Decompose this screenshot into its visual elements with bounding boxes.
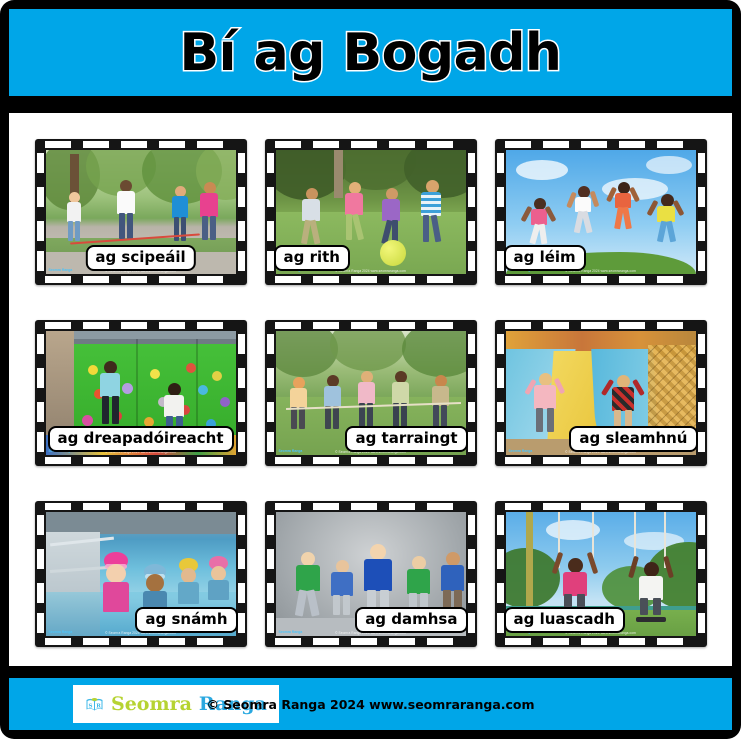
- banner-divider: [9, 96, 732, 113]
- logo-word-ranga: Ranga: [199, 695, 267, 714]
- svg-text:S: S: [89, 703, 93, 709]
- card-label: ag scipeáil: [85, 245, 195, 271]
- card-label: ag snámh: [135, 607, 237, 633]
- card-label: ag luascadh: [504, 607, 625, 633]
- seomra-ranga-logo[interactable]: S R Seomra Ranga: [73, 685, 279, 723]
- card-label: ag dreapadóireacht: [48, 426, 234, 452]
- footer-divider: [9, 666, 732, 678]
- footer-banner: S R Seomra Ranga © Seomra Ranga 2024 www…: [9, 678, 732, 730]
- open-book-icon: S R: [85, 697, 104, 712]
- card-row: Seomra Ranga © Seomra Ranga 2024 www.seo…: [9, 320, 732, 466]
- flashcard-damhsa[interactable]: Seomra Ranga © Seomra Ranga 2024 www.seo…: [265, 501, 477, 647]
- flashcard-snamh[interactable]: Seomra Ranga © Seomra Ranga 2024 www.seo…: [35, 501, 247, 647]
- card-label: ag rith: [274, 245, 350, 271]
- title-banner: Bí ag Bogadh: [9, 9, 732, 96]
- logo-word-seomra: Seomra: [111, 695, 192, 714]
- cards-grid: Seomra Ranga © Seomra Ranga 2024 www.seo…: [9, 113, 732, 666]
- card-label: ag sleamhnú: [569, 426, 697, 452]
- card-row: Seomra Ranga © Seomra Ranga 2024 www.seo…: [9, 501, 732, 647]
- flashcard-luascadh[interactable]: Seomra Ranga © Seomra Ranga 2024 www.seo…: [495, 501, 707, 647]
- card-label: ag damhsa: [355, 607, 467, 633]
- flashcard-dreapadoireacht[interactable]: Seomra Ranga © Seomra Ranga 2024 www.seo…: [35, 320, 247, 466]
- page-title: Bí ag Bogadh: [180, 27, 562, 79]
- poster-inner: Bí ag Bogadh: [9, 9, 732, 730]
- flashcard-leim[interactable]: Seomra Ranga © Seomra Ranga 2024 www.seo…: [495, 139, 707, 285]
- flashcard-rith[interactable]: Seomra Ranga © Seomra Ranga 2024 www.seo…: [265, 139, 477, 285]
- card-label: ag tarraingt: [345, 426, 467, 452]
- poster: Bí ag Bogadh: [0, 0, 741, 739]
- flashcard-tarraingt[interactable]: Seomra Ranga © Seomra Ranga 2024 www.seo…: [265, 320, 477, 466]
- card-row: Seomra Ranga © Seomra Ranga 2024 www.seo…: [9, 139, 732, 285]
- card-label: ag léim: [504, 245, 586, 271]
- flashcard-scipeail[interactable]: Seomra Ranga © Seomra Ranga 2024 www.seo…: [35, 139, 247, 285]
- svg-text:R: R: [96, 703, 101, 709]
- flashcard-sleamhnu[interactable]: Seomra Ranga © Seomra Ranga 2024 www.seo…: [495, 320, 707, 466]
